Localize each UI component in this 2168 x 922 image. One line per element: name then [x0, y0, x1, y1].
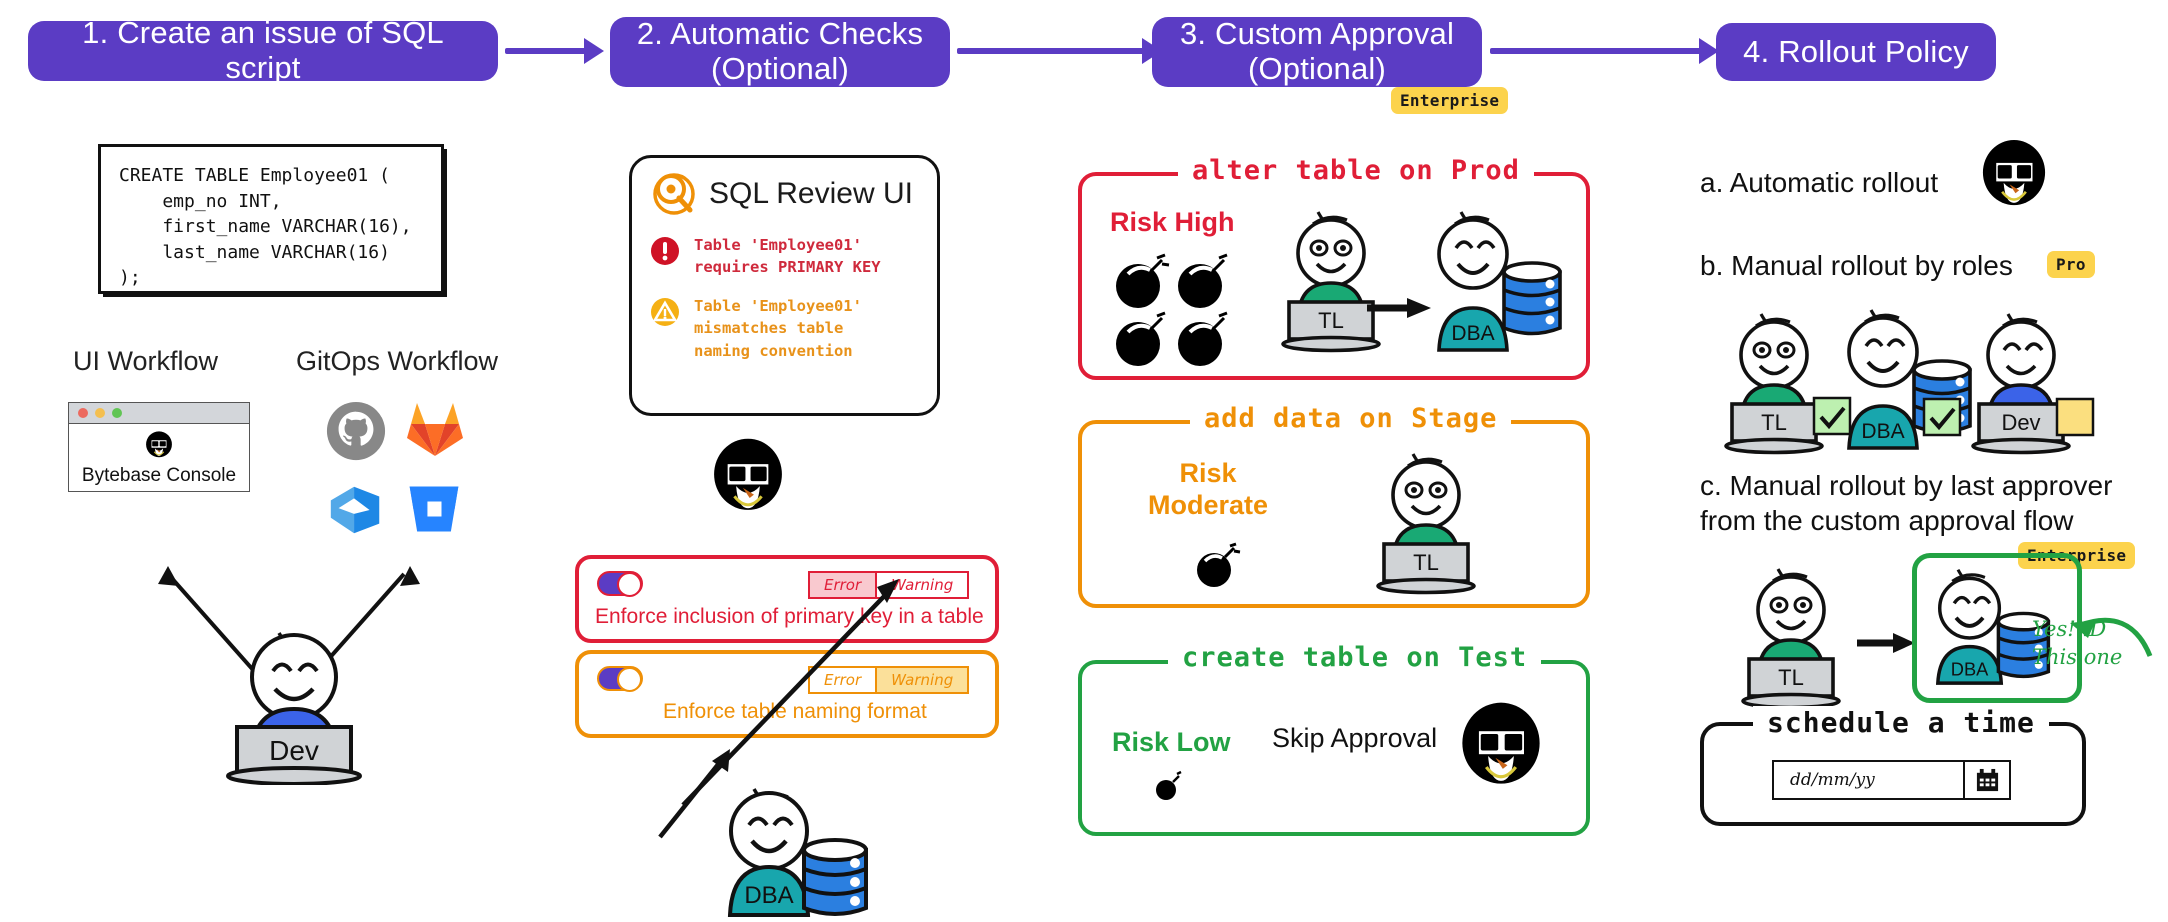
flow-step-3[interactable]: 3. Custom Approval (Optional) — [1152, 17, 1482, 87]
magnifier-icon — [652, 172, 696, 216]
rule-toggle-knob — [617, 572, 642, 597]
sql-script-card: CREATE TABLE Employee01 ( emp_no INT, fi… — [98, 144, 444, 294]
schedule-date-placeholder: dd/mm/yy — [1774, 770, 1963, 790]
rollout-c-arrow — [1855, 630, 1919, 656]
bytebase-avatar-step2 — [705, 437, 791, 515]
rollout-c-annotation: Yes! :D This one — [2032, 615, 2122, 672]
svg-text:Dev: Dev — [269, 735, 319, 766]
rule-toggle-table-naming[interactable] — [597, 666, 643, 691]
rollout-role-dev-pending — [2055, 397, 2097, 439]
approval-card-test-skip: Skip Approval — [1272, 723, 1437, 754]
approval-card-test-risk: Risk Low — [1112, 727, 1231, 759]
github-icon[interactable] — [325, 400, 387, 462]
svg-text:DBA: DBA — [1861, 420, 1904, 443]
approval-prod-dba-figure: DBA — [1425, 200, 1575, 355]
flow-arrow-1-2 — [505, 48, 587, 54]
rollout-option-c: c. Manual rollout by last approver from … — [1700, 468, 2112, 538]
svg-text:TL: TL — [1778, 665, 1804, 690]
svg-text:DBA: DBA — [1951, 658, 1989, 679]
risk-bomb-moderate — [1192, 538, 1244, 590]
flow-step-3-badge: Enterprise — [1391, 87, 1508, 114]
approval-card-test-title: create table on Test — [1168, 642, 1541, 673]
approval-test-avatar — [1455, 700, 1547, 790]
rollout-option-a: a. Automatic rollout — [1700, 165, 1938, 200]
bitbucket-icon[interactable] — [404, 478, 464, 540]
rule-toggle-knob — [617, 667, 642, 692]
svg-text:Dev: Dev — [2001, 410, 2040, 435]
azure-devops-icon[interactable] — [325, 479, 387, 541]
gitlab-icon[interactable] — [403, 398, 467, 460]
flow-step-2-sublabel: (Optional) — [711, 52, 849, 87]
schedule-title: schedule a time — [1753, 706, 2049, 739]
dba-figure-step2: DBA — [712, 775, 887, 920]
flow-step-4[interactable]: 4. Rollout Policy — [1716, 23, 1996, 81]
window-minimize-dot[interactable] — [95, 408, 105, 418]
browser-titlebar — [69, 403, 249, 424]
approval-card-stage-risk: Risk Moderate — [1148, 458, 1268, 522]
flow-arrow-1-2-head — [584, 38, 604, 64]
risk-bomb-low — [1152, 768, 1186, 802]
rollout-option-b-badge: Pro — [2047, 251, 2095, 278]
flow-step-1[interactable]: 1. Create an issue of SQL script — [28, 21, 498, 81]
svg-text:TL: TL — [1318, 308, 1344, 333]
flow-step-2[interactable]: 2. Automatic Checks (Optional) — [610, 17, 950, 87]
approval-card-prod-title: alter table on Prod — [1178, 155, 1534, 186]
rollout-a-avatar — [1977, 138, 2051, 210]
calendar-icon[interactable] — [1963, 762, 2009, 798]
risk-bombs-high — [1110, 248, 1230, 368]
rollout-option-b: b. Manual rollout by roles — [1700, 248, 2013, 283]
gitops-workflow-label: GitOps Workflow — [296, 346, 498, 377]
sql-review-card: SQL Review UI Table 'Employee01' require… — [629, 155, 940, 416]
rule-toggle-primary-key[interactable] — [597, 571, 643, 596]
flow-step-3-label: 3. Custom Approval — [1180, 17, 1454, 52]
bytebase-console-caption: Bytebase Console — [82, 465, 236, 487]
flow-arrow-2-3 — [957, 48, 1145, 54]
window-close-dot[interactable] — [78, 408, 88, 418]
schedule-date-input[interactable]: dd/mm/yy — [1772, 760, 2011, 800]
error-icon — [650, 236, 680, 266]
warning-icon — [650, 297, 680, 327]
svg-text:TL: TL — [1413, 550, 1439, 575]
approval-card-prod-risk: Risk High — [1110, 207, 1235, 239]
dev-figure: Dev — [215, 615, 390, 785]
rollout-role-dba-check — [1922, 397, 1964, 439]
flow-arrow-3-4 — [1490, 48, 1702, 54]
sql-review-message-warning: Table 'Employee01' mismatches table nami… — [694, 295, 862, 362]
approval-prod-tl-figure: TL — [1275, 198, 1395, 358]
bytebase-console-window[interactable]: Bytebase Console — [68, 402, 250, 492]
svg-text:DBA: DBA — [1451, 322, 1494, 345]
ui-workflow-label: UI Workflow — [73, 346, 218, 377]
browser-content: Bytebase Console — [69, 424, 249, 490]
approval-card-stage-title: add data on Stage — [1190, 403, 1511, 434]
flow-step-2-label: 2. Automatic Checks — [637, 17, 923, 52]
svg-text:DBA: DBA — [744, 882, 793, 909]
flow-step-1-label: 1. Create an issue of SQL script — [46, 16, 480, 85]
flow-step-4-label: 4. Rollout Policy — [1743, 35, 1969, 70]
sql-review-message-error: Table 'Employee01' requires PRIMARY KEY — [694, 234, 881, 279]
flow-step-3-sublabel: (Optional) — [1248, 52, 1386, 87]
svg-text:TL: TL — [1761, 410, 1787, 435]
bytebase-avatar-icon — [142, 428, 176, 462]
sql-script-text: CREATE TABLE Employee01 ( emp_no INT, fi… — [101, 147, 441, 307]
window-maximize-dot[interactable] — [112, 408, 122, 418]
approval-stage-tl-figure: TL — [1370, 440, 1490, 600]
sql-review-card-title: SQL Review UI — [709, 177, 913, 211]
rollout-c-tl-figure: TL — [1735, 555, 1860, 715]
